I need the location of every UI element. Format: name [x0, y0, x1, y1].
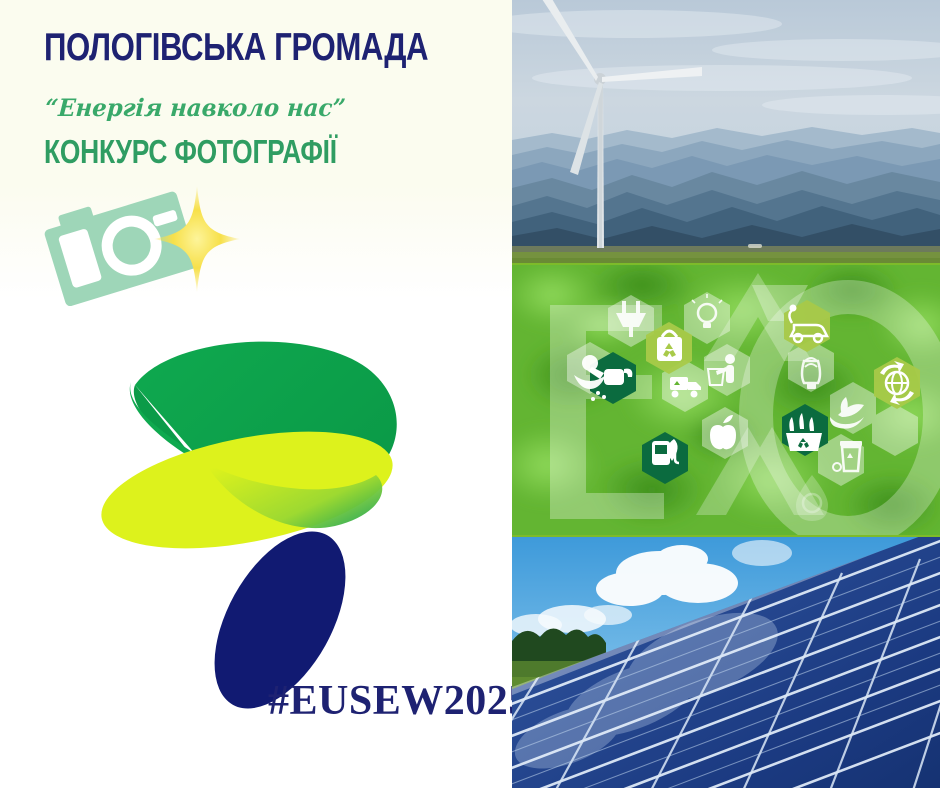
solar-panel-photo [512, 537, 940, 788]
sparkle-icon [152, 184, 242, 294]
camera-illustration [34, 186, 234, 306]
eco-icons-photo [512, 265, 940, 535]
right-photo-column [512, 0, 940, 788]
left-panel: ПОЛОГІВСЬКА ГРОМАДА “Енергія навколо нас… [0, 0, 512, 788]
page-title: ПОЛОГІВСЬКА ГРОМАДА [44, 28, 428, 67]
mountain-ridges [512, 127, 940, 263]
wind-turbine-photo [512, 0, 940, 263]
subtitle-text: КОНКУРС ФОТОГРАФІЇ [44, 135, 337, 168]
hashtag-text: #EUSEW2025 [268, 680, 512, 722]
slogan-text: “Енергія навколо нас” [44, 96, 346, 120]
eusew-logo [95, 330, 435, 720]
poster: ПОЛОГІВСЬКА ГРОМАДА “Енергія навколо нас… [0, 0, 940, 788]
